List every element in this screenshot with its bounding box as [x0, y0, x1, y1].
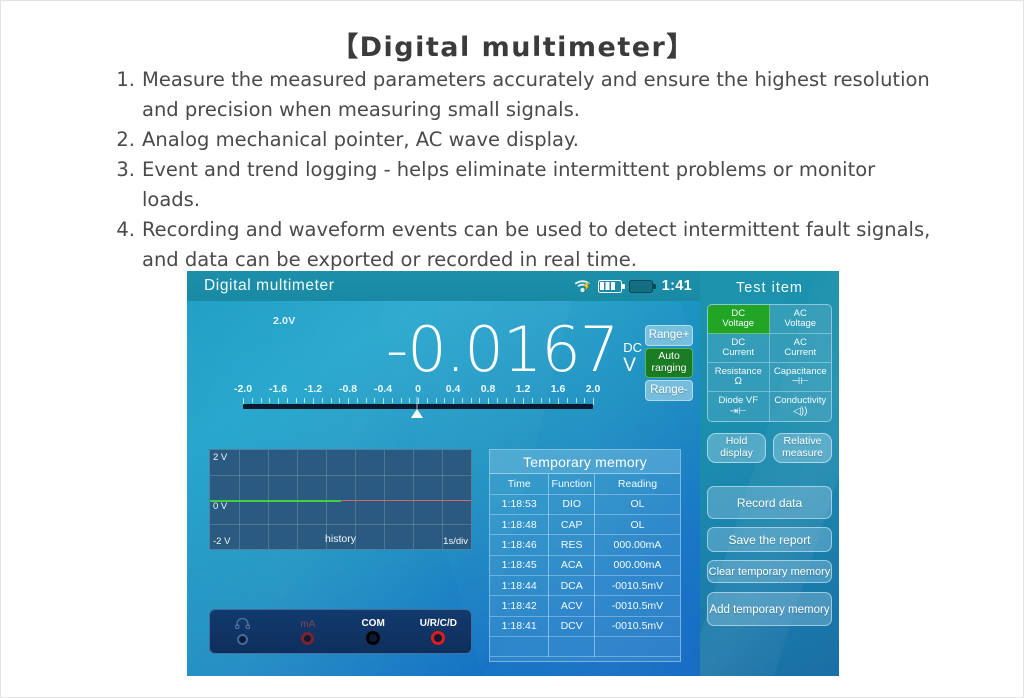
table-cell: DCV: [549, 616, 595, 636]
save-report-button[interactable]: Save the report: [707, 527, 832, 552]
wifi-warning-icon: [574, 279, 591, 293]
scale-tick-labels: -2.0-1.6-1.2-0.8-0.400.40.81.21.62.0: [243, 383, 593, 397]
table-cell: -0010.5mV: [594, 596, 680, 616]
relative-measure-line2: measure: [774, 448, 831, 460]
jack-label: mA: [300, 619, 315, 630]
hold-display-button[interactable]: Hold display: [707, 433, 766, 463]
list-item: 2. Analog mechanical pointer, AC wave di…: [113, 125, 933, 155]
relative-measure-line1: Relative: [774, 436, 831, 448]
jack-milliamp[interactable]: mA: [275, 610, 340, 653]
graph-label-bottom: -2 V: [213, 536, 230, 547]
table-cell: [549, 636, 595, 656]
table-cell: 1:18:41: [490, 616, 549, 636]
history-graph[interactable]: 2 V 0 V -2 V history 1s/div: [209, 449, 472, 550]
jack-headphone[interactable]: [210, 610, 275, 653]
table-cell: ACA: [549, 555, 595, 575]
scale-tick-label: 0.8: [481, 383, 496, 395]
clock: 1:41: [662, 278, 692, 294]
table-cell: 000.00mA: [594, 555, 680, 575]
table-row[interactable]: [490, 636, 680, 656]
graph-timebase-label: 1s/div: [443, 536, 468, 547]
table-cell: [594, 636, 680, 656]
table-cell: DCA: [549, 575, 595, 595]
scale-tick-label: 2.0: [586, 383, 601, 395]
scale-tick-label: -1.2: [304, 383, 322, 395]
scale-tick-label: 0.4: [446, 383, 461, 395]
table-cell: RES: [549, 535, 595, 555]
temporary-memory-title: Temporary memory: [490, 450, 680, 474]
measurement-area: Digital multimeter 1:41: [187, 271, 700, 676]
list-item: 4. Recording and waveform events can be …: [113, 215, 933, 275]
table-row[interactable]: 1:18:41DCV-0010.5mV: [490, 616, 680, 636]
test-item-ac-voltage[interactable]: ACVoltage: [770, 305, 832, 334]
list-item-text: Measure the measured parameters accurate…: [135, 65, 933, 125]
scale-needle-stem: [416, 397, 417, 409]
sidebar-title: Test item: [700, 280, 839, 296]
list-item-number: 2.: [113, 125, 135, 155]
headphone-icon: [235, 618, 250, 632]
table-row[interactable]: 1:18:44DCA-0010.5mV: [490, 575, 680, 595]
table-cell: 000.00mA: [594, 535, 680, 555]
graph-name-label: history: [325, 533, 356, 545]
test-item-symbol-icon: ⊣⊢: [792, 377, 809, 387]
hold-display-line1: Hold: [708, 436, 765, 448]
action-button-group: Record data Save the report Clear tempor…: [707, 486, 832, 626]
table-column-header: Time: [490, 474, 549, 494]
test-item-conductivity[interactable]: Conductivity◁)): [770, 392, 832, 421]
range-up-button[interactable]: Range+: [645, 325, 693, 346]
page-title: 【Digital multimeter】: [1, 25, 1024, 64]
reading-unit: V: [623, 356, 636, 375]
auto-ranging-line1: Auto: [646, 351, 692, 363]
test-item-grid: DCVoltageACVoltageDCCurrentACCurrentResi…: [707, 304, 832, 422]
graph-label-mid: 0 V: [213, 501, 227, 512]
jack-com[interactable]: COM: [341, 610, 406, 653]
clear-temporary-memory-button[interactable]: Clear temporary memory: [707, 560, 832, 583]
list-item-number: 4.: [113, 215, 135, 275]
test-item-label: Voltage: [784, 319, 816, 330]
test-item-capacitance[interactable]: Capacitance⊣⊢: [770, 363, 832, 392]
test-item-diode-vf[interactable]: Diode VF⇥⊢: [708, 392, 770, 421]
hold-display-line2: display: [708, 448, 765, 460]
test-item-symbol-icon: Ω: [735, 377, 742, 387]
test-item-label: Current: [784, 348, 816, 359]
jack-urcd[interactable]: U/R/C/D: [406, 610, 471, 653]
table-cell: 1:18:44: [490, 575, 549, 595]
page-root: 【Digital multimeter】 1. Measure the meas…: [0, 0, 1024, 698]
test-item-dc-current[interactable]: DCCurrent: [708, 334, 770, 363]
record-data-button[interactable]: Record data: [707, 486, 832, 519]
table-row[interactable]: 1:18:46RES000.00mA: [490, 535, 680, 555]
jack-hole[interactable]: [237, 634, 248, 645]
test-item-symbol-icon: ◁)): [793, 407, 807, 417]
scale-tick-label: -2.0: [234, 383, 252, 395]
table-row[interactable]: 1:18:53DIOOL: [490, 494, 680, 514]
analog-scale: -2.0-1.6-1.2-0.8-0.400.40.81.21.62.0: [243, 383, 593, 423]
range-down-button[interactable]: Range-: [645, 380, 693, 401]
jack-label: U/R/C/D: [420, 618, 457, 629]
scale-minor-ticks: [243, 397, 593, 404]
table-cell: OL: [594, 515, 680, 535]
scale-tick-label: 1.2: [516, 383, 531, 395]
table-row[interactable]: 1:18:45ACA000.00mA: [490, 555, 680, 575]
jack-hole[interactable]: [301, 632, 314, 645]
list-item-text: Recording and waveform events can be use…: [135, 215, 933, 275]
scale-tick-label: 0: [415, 383, 421, 395]
test-item-symbol-icon: ⇥⊢: [730, 407, 747, 417]
auto-ranging-button[interactable]: Auto ranging: [645, 348, 693, 378]
test-item-sidebar: Test item DCVoltageACVoltageDCCurrentACC…: [700, 271, 839, 676]
test-item-label: Voltage: [722, 319, 754, 330]
temporary-memory-panel: Temporary memory TimeFunctionReading 1:1…: [489, 449, 681, 662]
probe-jack-panel: mA COM U/R/C/D: [209, 609, 472, 654]
table-cell: OL: [594, 494, 680, 514]
primary-reading: -0.0167 DC V: [187, 309, 642, 381]
graph-trace-red: [341, 500, 472, 501]
relative-measure-button[interactable]: Relative measure: [773, 433, 832, 463]
list-item-number: 1.: [113, 65, 135, 125]
scale-tick-label: -0.4: [374, 383, 392, 395]
status-bar-indicators: 1:41: [574, 278, 692, 294]
app-title: Digital multimeter: [204, 277, 335, 295]
scale-tick-label: -0.8: [339, 383, 357, 395]
jack-hole[interactable]: [431, 631, 445, 645]
test-item-resistance[interactable]: ResistanceΩ: [708, 363, 770, 392]
table-header-row: TimeFunctionReading: [490, 474, 680, 494]
reading-value: -0.0167: [386, 319, 618, 381]
scale-tick-label: 1.6: [551, 383, 566, 395]
scale-needle-icon: [411, 409, 423, 418]
table-cell: ACV: [549, 596, 595, 616]
table-cell: [490, 636, 549, 656]
test-item-label: Current: [722, 348, 754, 359]
battery-full-icon: [598, 280, 622, 293]
table-cell: 1:18:48: [490, 515, 549, 535]
test-item-ac-current[interactable]: ACCurrent: [770, 334, 832, 363]
reading-coupling: DC: [623, 341, 642, 354]
table-cell: -0010.5mV: [594, 575, 680, 595]
table-cell: DIO: [549, 494, 595, 514]
test-item-dc-voltage[interactable]: DCVoltage: [708, 305, 770, 334]
add-temporary-memory-button[interactable]: Add temporary memory: [707, 592, 832, 626]
jack-hole[interactable]: [366, 631, 380, 645]
list-item-text: Analog mechanical pointer, AC wave displ…: [135, 125, 933, 155]
table-cell: 1:18:53: [490, 494, 549, 514]
list-item-number: 3.: [113, 155, 135, 215]
toggle-button-group: Hold display Relative measure: [707, 433, 832, 463]
table-row[interactable]: 1:18:48CAPOL: [490, 515, 680, 535]
table-row[interactable]: 1:18:42ACV-0010.5mV: [490, 596, 680, 616]
graph-trace-green: [210, 500, 341, 502]
status-bar: Digital multimeter 1:41: [187, 271, 700, 301]
table-cell: -0010.5mV: [594, 616, 680, 636]
table-cell: 1:18:42: [490, 596, 549, 616]
scale-tick-label: -1.6: [269, 383, 287, 395]
table-column-header: Reading: [594, 474, 680, 494]
table-cell: 1:18:45: [490, 555, 549, 575]
temporary-memory-table: TimeFunctionReading 1:18:53DIOOL1:18:48C…: [490, 474, 680, 657]
list-item: 3. Event and trend logging - helps elimi…: [113, 155, 933, 215]
multimeter-screen: Digital multimeter 1:41: [187, 271, 839, 676]
list-item-text: Event and trend logging - helps eliminat…: [135, 155, 933, 215]
table-column-header: Function: [549, 474, 595, 494]
table-cell: 1:18:46: [490, 535, 549, 555]
graph-label-top: 2 V: [213, 452, 227, 463]
feature-list: 1. Measure the measured parameters accur…: [113, 65, 933, 275]
list-item: 1. Measure the measured parameters accur…: [113, 65, 933, 125]
table-cell: CAP: [549, 515, 595, 535]
auto-ranging-line2: ranging: [646, 363, 692, 375]
range-button-group: Range+ Auto ranging Range-: [645, 325, 693, 401]
reading-unit-group: DC V: [623, 341, 642, 381]
battery-empty-icon: [629, 280, 653, 293]
jack-label: COM: [361, 618, 384, 629]
